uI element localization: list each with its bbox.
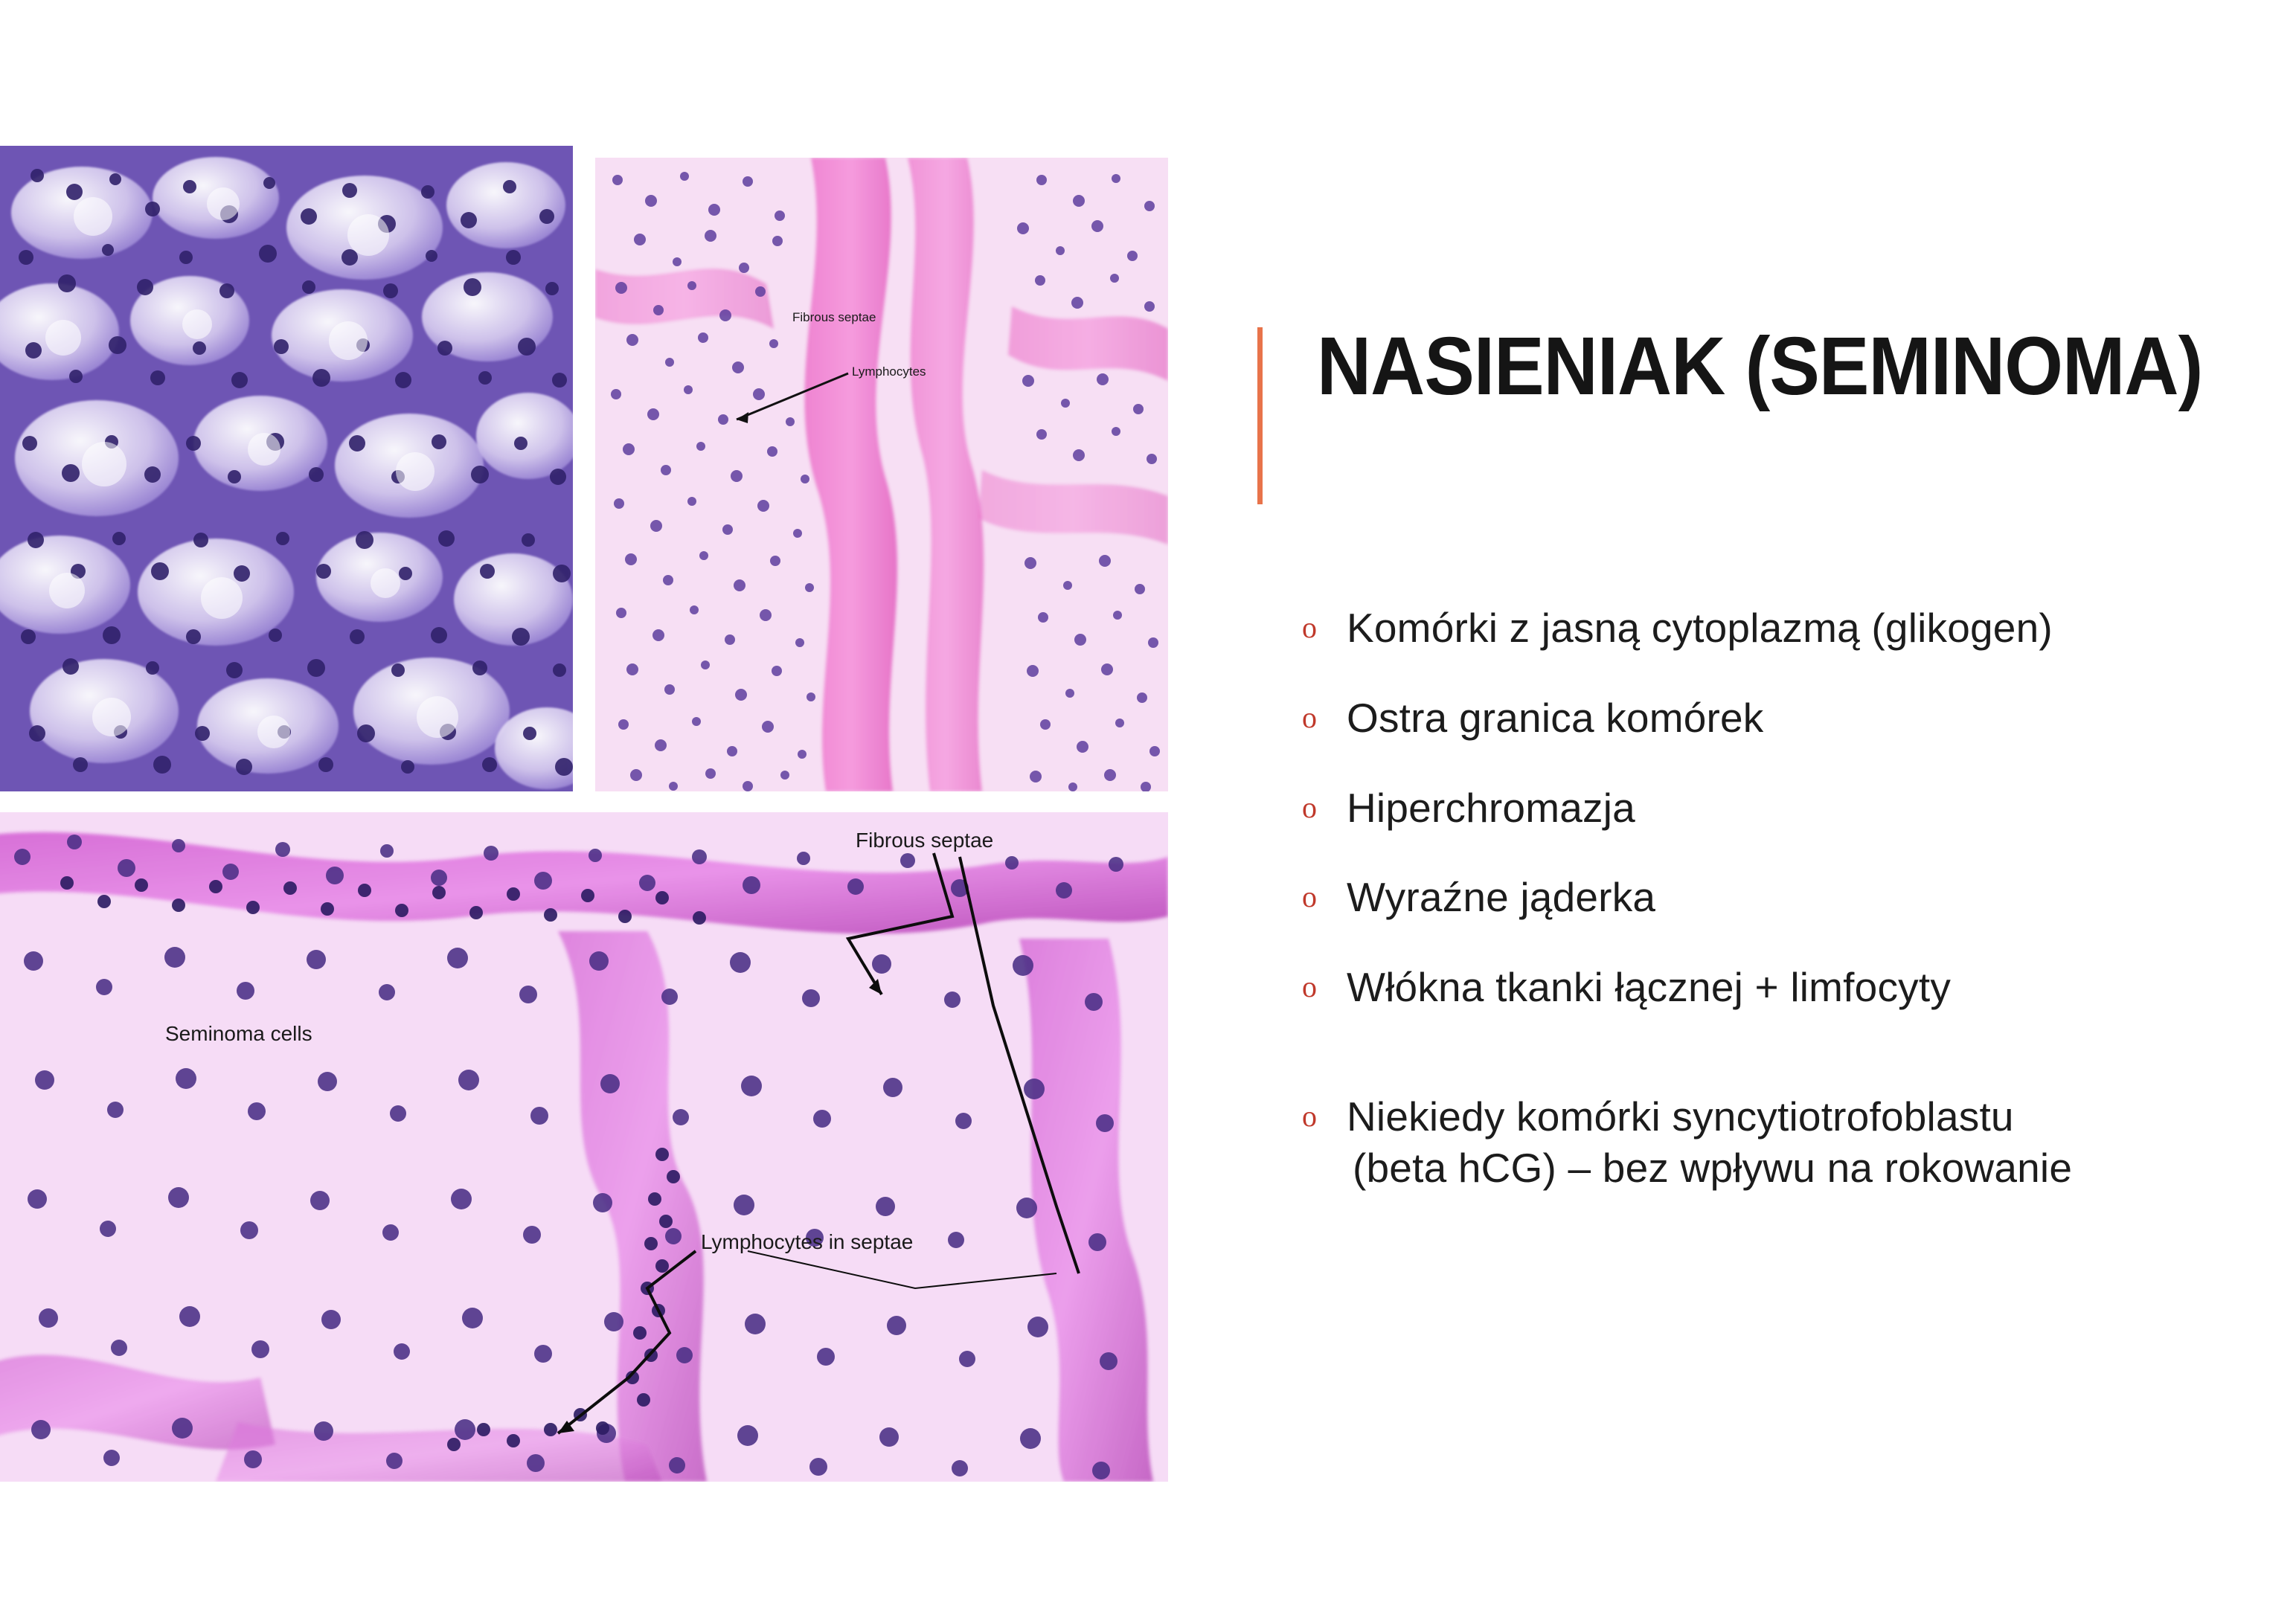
title-block: NASIENIAK (SEMINOMA) — [1257, 320, 2225, 506]
list-item-label: Ostra granica komórek — [1347, 692, 1764, 744]
bullet-list: o Komórki z jasną cytoplazmą (glikogen) … — [1302, 602, 2277, 1232]
list-item-label: Wyraźne jąderka — [1347, 872, 1655, 923]
title-accent-bar — [1257, 327, 1263, 504]
slide: Fibrous septae Lymphocytes — [0, 0, 2296, 1623]
list-item-line-1: Niekiedy komórki syncytiotrofoblastu — [1347, 1093, 2014, 1140]
page-title: NASIENIAK (SEMINOMA) — [1317, 320, 2202, 414]
bullet-marker-icon: o — [1302, 872, 1347, 912]
bullet-marker-icon: o — [1302, 782, 1347, 823]
list-item-label: Komórki z jasną cytoplazmą (glikogen) — [1347, 602, 2053, 654]
histology-image-bottom: Fibrous septae Seminoma cells Lymphocyte… — [0, 812, 1168, 1482]
bullet-marker-icon: o — [1302, 962, 1347, 1002]
list-item: o Komórki z jasną cytoplazmą (glikogen) — [1302, 602, 2277, 654]
list-item: o Ostra granica komórek — [1302, 692, 2277, 744]
list-item-line-2: (beta hCG) – bez wpływu na rokowanie — [1353, 1142, 2072, 1194]
seminoma-septae-svg — [0, 812, 1168, 1482]
list-item: o Niekiedy komórki syncytiotrofoblastu (… — [1302, 1091, 2277, 1194]
bullet-marker-icon: o — [1302, 602, 1347, 643]
fibrous-septae-svg — [595, 158, 1168, 791]
list-item: o Wyraźne jąderka — [1302, 872, 2277, 923]
seminoma-high-power-svg — [0, 146, 573, 791]
list-item-label: Niekiedy komórki syncytiotrofoblastu (be… — [1347, 1091, 2072, 1194]
list-item-label: Włókna tkanki łącznej + limfocyty — [1347, 962, 1951, 1013]
list-item: o Włókna tkanki łącznej + limfocyty — [1302, 962, 2277, 1013]
histology-image-top-right: Fibrous septae Lymphocytes — [595, 158, 1168, 791]
figure-group: Fibrous septae Lymphocytes — [0, 146, 1168, 1485]
list-item-label: Hiperchromazja — [1347, 782, 1635, 834]
bullet-marker-icon: o — [1302, 692, 1347, 733]
bullet-marker-icon: o — [1302, 1091, 1347, 1131]
histology-image-top-left — [0, 146, 573, 791]
list-item: o Hiperchromazja — [1302, 782, 2277, 834]
